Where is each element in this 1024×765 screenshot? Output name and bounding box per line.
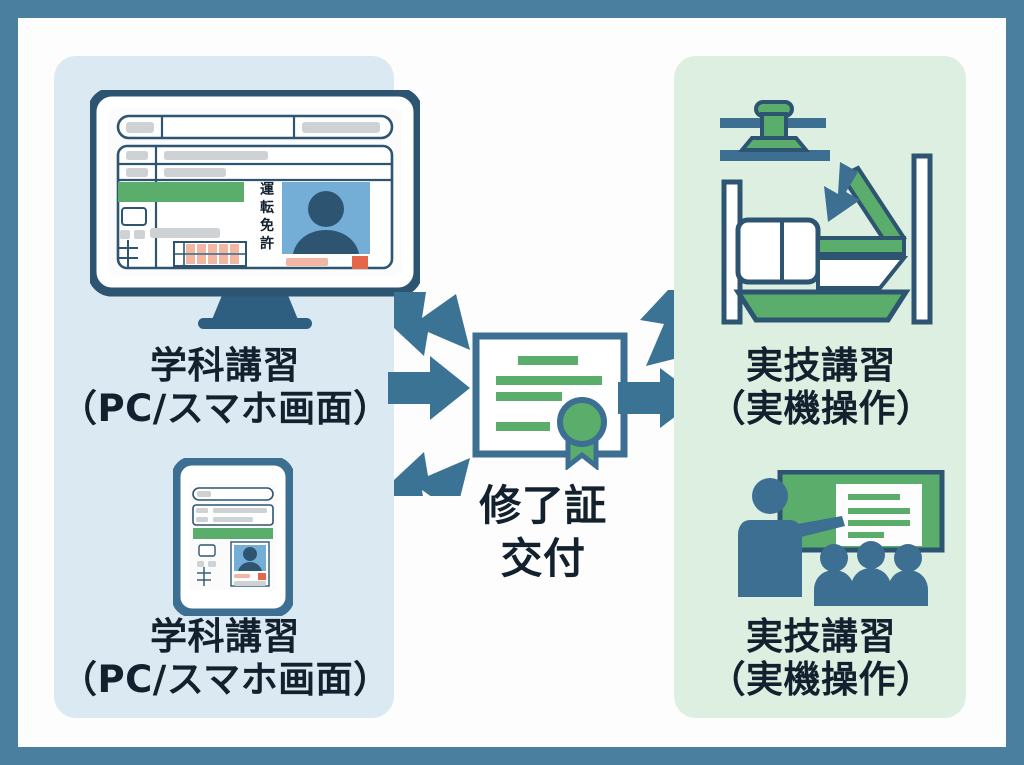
- label-gakka-mobile: 学科講習 （PC/スマホ画面）: [60, 616, 390, 701]
- machine-press-icon: [718, 96, 948, 328]
- certificate-icon: [470, 330, 630, 470]
- desktop-monitor-icon: 運 転 免 許: [90, 90, 420, 338]
- label-certificate: 修了証 交付: [438, 480, 648, 585]
- instructor-classroom-icon: [736, 470, 946, 606]
- arrow-middle-to-certificate: [388, 356, 470, 420]
- diagram-frame: 運 転 免 許 学科講習 （PC/スマホ画面）: [0, 0, 1024, 765]
- label-jitsugi-machine: 実技講習 （実機操作）: [680, 345, 962, 430]
- label-gakka-pc: 学科講習 （PC/スマホ画面）: [60, 345, 390, 430]
- label-jitsugi-classroom: 実技講習 （実機操作）: [680, 616, 962, 701]
- license-vertical-text-3: 免: [260, 217, 274, 234]
- license-vertical-text-2: 転: [260, 199, 274, 216]
- arrow-pc-to-certificate: [394, 292, 470, 356]
- license-vertical-text-1: 運: [260, 182, 275, 198]
- license-vertical-text-4: 許: [260, 235, 274, 252]
- diagram-canvas: 運 転 免 許 学科講習 （PC/スマホ画面）: [18, 18, 1006, 747]
- smartphone-icon: [173, 458, 293, 616]
